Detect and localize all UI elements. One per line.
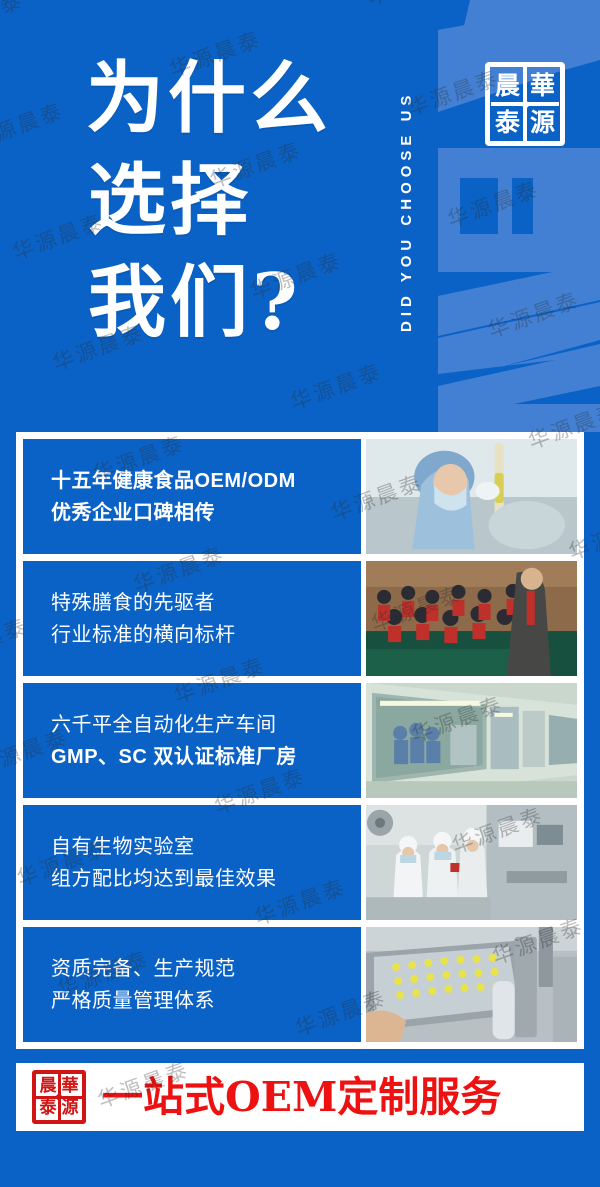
feature-line-1: 六千平全自动化生产车间: [51, 711, 361, 739]
feature-photo-packaging-line: [366, 805, 577, 920]
poster-root: 华源晨泰华源晨泰华源晨泰华源晨泰华源晨泰华源晨泰华源晨泰华源晨泰华源晨泰华源晨泰…: [0, 0, 600, 1187]
headline-line-1: 为什么: [86, 48, 332, 150]
feature-line-2: 严格质量管理体系: [51, 987, 361, 1015]
vertical-tagline: DID YOU CHOOSE US: [398, 16, 428, 406]
seal-char-2: 華: [525, 67, 560, 104]
seal-char-4: 源: [525, 104, 560, 141]
photo-illustration: [366, 561, 577, 676]
feature-text-panel: 特殊膳食的先驱者 行业标准的横向标杆: [23, 561, 361, 676]
footer-seal-char-2: 華: [59, 1075, 81, 1097]
feature-line-2: 组方配比均达到最佳效果: [51, 865, 361, 893]
footer-seal-center-dot: [56, 1094, 62, 1100]
photo-illustration: [366, 683, 577, 798]
feature-photo-conference: [366, 561, 577, 676]
photo-illustration: [366, 927, 577, 1042]
feature-line-2: 优秀企业口碑相传: [51, 499, 361, 527]
feature-text-panel: 十五年健康食品OEM/ODM 优秀企业口碑相传: [23, 439, 361, 554]
feature-line-2: 行业标准的横向标杆: [51, 621, 361, 649]
feature-photo-blister-packing: [366, 927, 577, 1042]
footer-seal-char-1: 晨: [37, 1075, 59, 1097]
poster-header: 为什么 选择 我们? DID YOU CHOOSE US 晨 華 泰 源: [0, 0, 600, 432]
feature-line-1: 自有生物实验室: [51, 833, 361, 861]
footer-seal-char-4: 源: [59, 1097, 81, 1119]
footer-seal-char-3: 泰: [37, 1097, 59, 1119]
headline-line-2: 选择: [88, 150, 332, 252]
headline-line-3: 我们?: [88, 252, 332, 354]
seal-center-dot: [522, 101, 529, 108]
photo-illustration: [366, 439, 577, 554]
list-item[interactable]: 六千平全自动化生产车间 GMP、SC 双认证标准厂房: [23, 683, 577, 798]
feature-photo-lab-technician: [366, 439, 577, 554]
brand-seal-stamp: 晨 華 泰 源: [481, 56, 569, 152]
feature-list: 十五年健康食品OEM/ODM 优秀企业口碑相传: [16, 432, 584, 1049]
feature-photo-cleanroom: [366, 683, 577, 798]
feature-line-1: 特殊膳食的先驱者: [51, 589, 361, 617]
feature-text-panel: 六千平全自动化生产车间 GMP、SC 双认证标准厂房: [23, 683, 361, 798]
list-item[interactable]: 十五年健康食品OEM/ODM 优秀企业口碑相传: [23, 439, 577, 554]
photo-illustration: [366, 805, 577, 920]
feature-line-2: GMP、SC 双认证标准厂房: [51, 743, 361, 771]
list-item[interactable]: 自有生物实验室 组方配比均达到最佳效果: [23, 805, 577, 920]
footer-seal-stamp: 晨 華 泰 源: [30, 1068, 88, 1126]
page-title: 为什么 选择 我们?: [86, 48, 332, 354]
seal-char-3: 泰: [490, 104, 525, 141]
feature-line-1: 资质完备、生产规范: [51, 955, 361, 983]
feature-text-panel: 自有生物实验室 组方配比均达到最佳效果: [23, 805, 361, 920]
footer-slogan: 一站式OEM定制服务: [102, 1077, 501, 1118]
feature-line-1: 十五年健康食品OEM/ODM: [51, 467, 361, 495]
list-item[interactable]: 特殊膳食的先驱者 行业标准的横向标杆: [23, 561, 577, 676]
feature-text-panel: 资质完备、生产规范 严格质量管理体系: [23, 927, 361, 1042]
list-item[interactable]: 资质完备、生产规范 严格质量管理体系: [23, 927, 577, 1042]
seal-char-1: 晨: [490, 67, 525, 104]
footer-banner[interactable]: 晨 華 泰 源 一站式OEM定制服务: [16, 1063, 584, 1131]
